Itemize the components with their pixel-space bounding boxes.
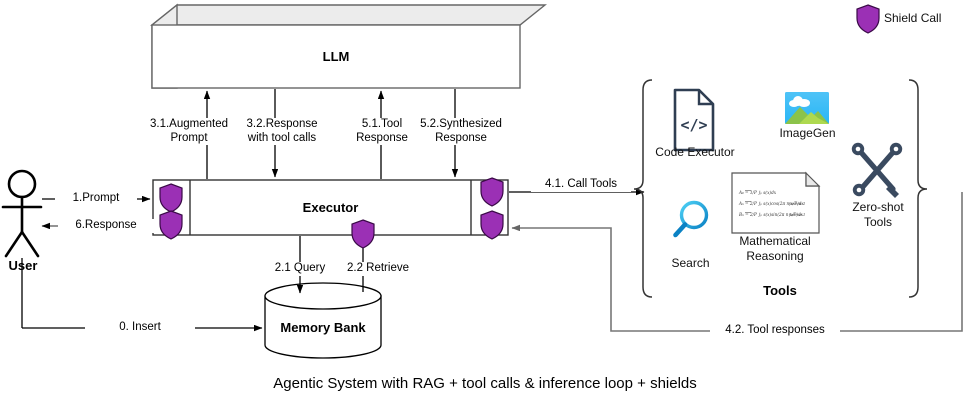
diagram-canvas: </> A₀ = 1/P ∫ₚ s(x)dx Aₙ = 2/P ∫ₚ s(x)c… <box>0 0 970 411</box>
node-llm-shape <box>152 5 545 88</box>
svg-text:</>: </> <box>680 116 707 134</box>
legend-label: Shield Call <box>884 11 968 26</box>
crossed-wrench-icon <box>852 143 902 198</box>
svg-text:for n ≥ 1: for n ≥ 1 <box>788 202 805 206</box>
shield-memory <box>352 220 374 248</box>
node-user-figure <box>3 171 41 256</box>
image-picture-icon <box>785 92 829 124</box>
tools-group-label: Tools <box>725 284 835 298</box>
edge-label-query: 2.1 Query <box>262 262 338 276</box>
edge-label-tool-responses: 4.2. Tool responses <box>710 324 840 338</box>
node-memory-bank-label: Memory Bank <box>265 320 381 335</box>
magnifying-glass-icon <box>676 203 707 236</box>
node-llm-label: LLM <box>152 49 520 64</box>
svg-text:A₀ = 1/P ∫ₚ s(x)dx: A₀ = 1/P ∫ₚ s(x)dx <box>738 190 777 195</box>
edge-label-response: 6.Response <box>58 219 154 233</box>
node-executor-label: Executor <box>190 200 471 215</box>
tool-label-mathematical-reasoning: Mathematical Reasoning <box>722 234 828 263</box>
edge-label-synthesized-response: 5.2.Synthesized Response <box>409 118 513 145</box>
node-user-label: User <box>0 258 46 273</box>
tool-label-code-executor: Code Executor <box>645 145 745 160</box>
edge-label-prompt: 1.Prompt <box>55 192 137 206</box>
shield-legend <box>857 5 879 33</box>
tool-label-imagegen: ImageGen <box>765 126 850 141</box>
formula-document-icon: A₀ = 1/P ∫ₚ s(x)dx Aₙ = 2/P ∫ₚ s(x)cos(2… <box>732 173 819 233</box>
edge-label-augmented-prompt: 3.1.Augmented Prompt <box>141 118 237 145</box>
tool-label-search: Search <box>653 256 728 271</box>
edge-label-response-tool-calls: 3.2.Response with tool calls <box>230 118 334 145</box>
edge-label-call-tools: 4.1. Call Tools <box>531 178 631 192</box>
edge-label-retrieve: 2.2 Retrieve <box>333 262 423 276</box>
edge-insert-line <box>22 258 262 328</box>
edge-label-insert: 0. Insert <box>85 321 195 335</box>
tool-label-zero-shot-tools: Zero-shot Tools <box>840 200 916 229</box>
diagram-caption: Agentic System with RAG + tool calls & i… <box>0 375 970 392</box>
svg-text:for n ≥ 1: for n ≥ 1 <box>788 213 805 217</box>
code-document-icon: </> <box>675 90 713 150</box>
